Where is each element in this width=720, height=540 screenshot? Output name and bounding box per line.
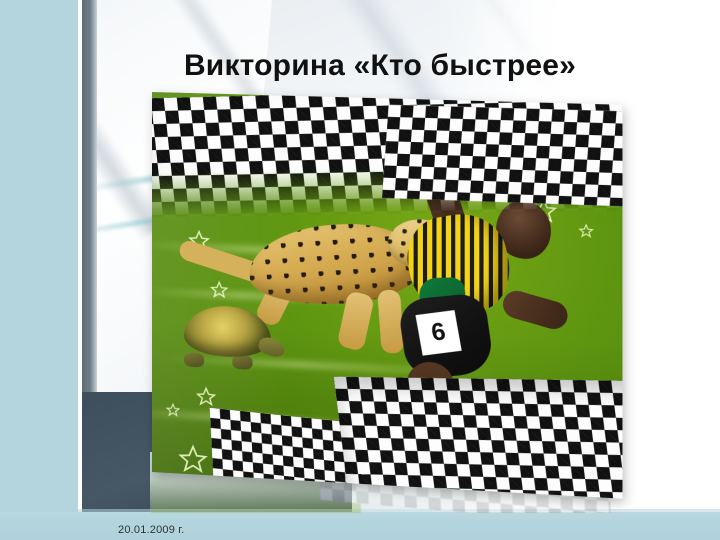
sprinter-bib-number: 6: [415, 310, 461, 356]
tortoise-figure: [174, 298, 287, 374]
slide-footer-date: 20.01.2009 г.: [118, 524, 184, 536]
sprinter-forward-arm: [500, 288, 571, 333]
checkered-flag-icon: [382, 105, 623, 207]
tortoise-head: [257, 334, 287, 359]
presentation-slide: Викторина «Кто быстрее»: [0, 0, 720, 540]
checkered-flag-icon: [334, 377, 623, 499]
star-icon: [178, 443, 208, 475]
star-icon: [196, 386, 216, 407]
tortoise-shell: [184, 304, 271, 358]
star-icon: [166, 403, 180, 418]
tortoise-foot: [184, 353, 204, 368]
slide-title: Викторина «Кто быстрее»: [120, 48, 640, 84]
tortoise-foot: [232, 355, 252, 370]
picture-canvas: 6: [152, 92, 622, 499]
accent-band-bottom: [0, 512, 720, 540]
accent-band-left: [0, 0, 78, 540]
slide-picture[interactable]: 6: [152, 92, 607, 472]
